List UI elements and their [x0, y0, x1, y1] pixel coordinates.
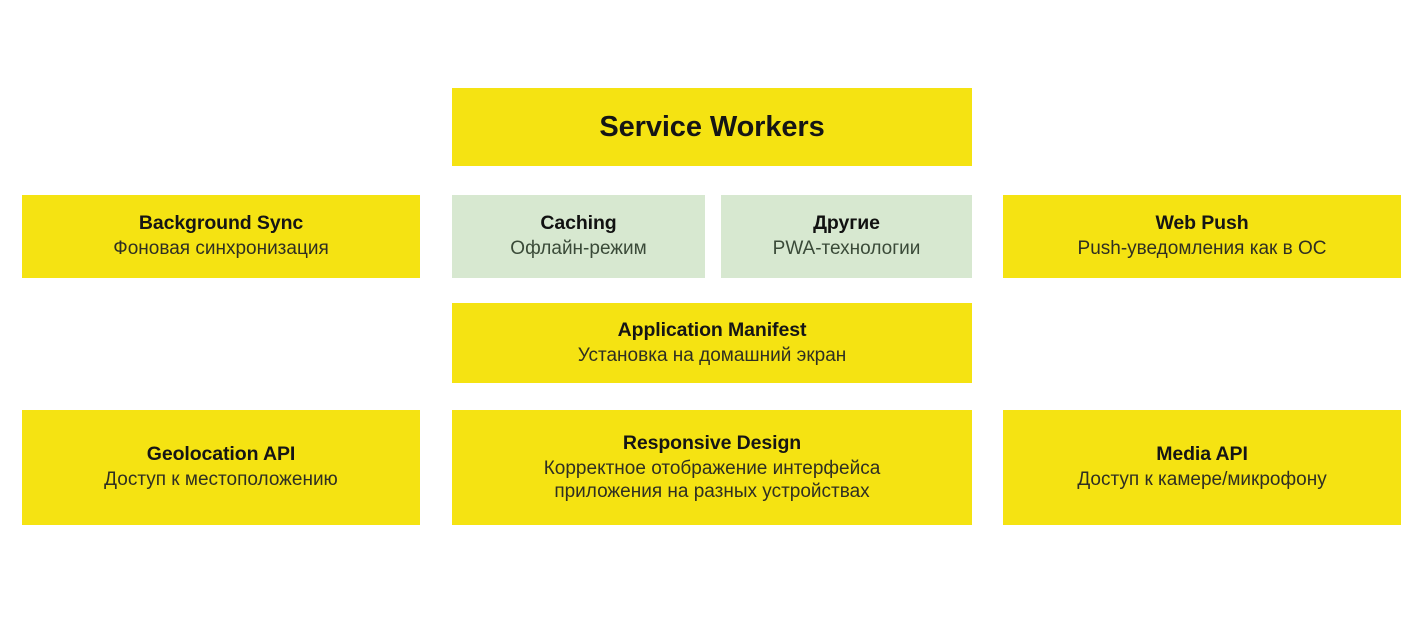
card-title: Media API [1156, 443, 1248, 466]
card-title: Другие [813, 212, 880, 235]
card-title: Caching [540, 212, 616, 235]
pwa-technologies-diagram: Service Workers Background Sync Фоновая … [0, 0, 1424, 619]
card-subtitle: Установка на домашний экран [578, 344, 847, 367]
card-background-sync: Background Sync Фоновая синхронизация [22, 195, 420, 278]
card-web-push: Web Push Push-уведомления как в ОС [1003, 195, 1401, 278]
card-media-api: Media API Доступ к камере/микрофону [1003, 410, 1401, 525]
card-subtitle-line-1: Корректное отображение интерфейса [544, 457, 881, 480]
card-title: Geolocation API [147, 443, 295, 466]
card-geolocation-api: Geolocation API Доступ к местоположению [22, 410, 420, 525]
card-subtitle: PWA-технологии [773, 237, 921, 260]
card-title: Web Push [1155, 212, 1248, 235]
card-subtitle: Офлайн-режим [510, 237, 646, 260]
card-subtitle-line-2: приложения на разных устройствах [544, 480, 881, 503]
card-subtitle: Доступ к местоположению [104, 468, 338, 491]
card-other-pwa-technologies: Другие PWA-технологии [721, 195, 972, 278]
card-subtitle: Push-уведомления как в ОС [1078, 237, 1327, 260]
card-application-manifest: Application Manifest Установка на домашн… [452, 303, 972, 383]
card-caching: Caching Офлайн-режим [452, 195, 705, 278]
card-subtitle: Корректное отображение интерфейса прилож… [544, 457, 881, 503]
card-responsive-design: Responsive Design Корректное отображение… [452, 410, 972, 525]
card-title: Background Sync [139, 212, 303, 235]
card-subtitle: Фоновая синхронизация [113, 237, 329, 260]
card-title: Service Workers [599, 110, 824, 144]
card-service-workers: Service Workers [452, 88, 972, 166]
card-title: Responsive Design [623, 432, 801, 455]
card-title: Application Manifest [618, 319, 807, 342]
card-subtitle: Доступ к камере/микрофону [1077, 468, 1326, 491]
